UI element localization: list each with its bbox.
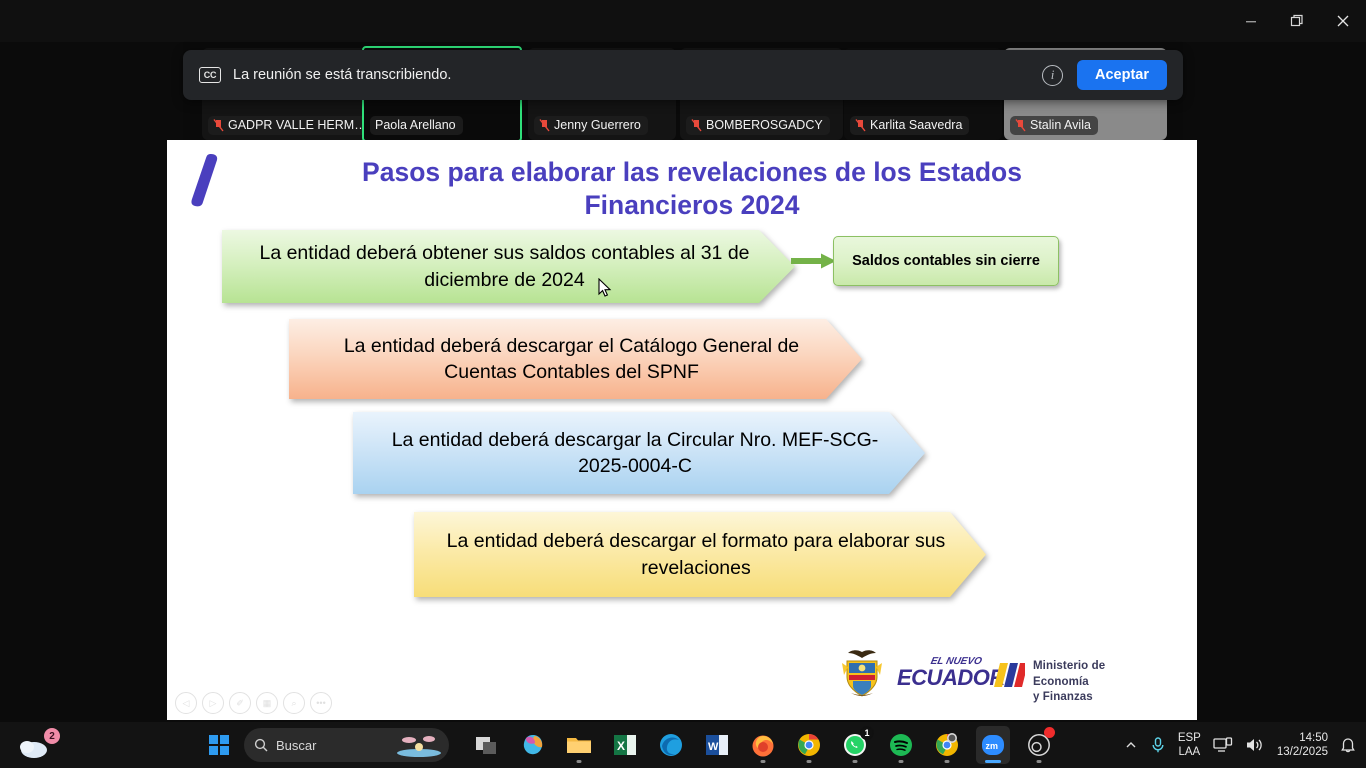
running-indicator bbox=[945, 760, 950, 763]
notification-message: La reunión se está transcribiendo. bbox=[233, 67, 451, 83]
page-title: Pasos para elaborar las revelaciones de … bbox=[297, 156, 1087, 223]
running-indicator bbox=[761, 760, 766, 763]
callout-label: Saldos contables sin cierre bbox=[852, 253, 1040, 269]
weather-badge: 2 bbox=[44, 728, 60, 744]
taskbar-app-obs[interactable] bbox=[1022, 726, 1056, 764]
svg-text:W: W bbox=[708, 741, 719, 753]
clock-date: 13/2/2025 bbox=[1277, 745, 1328, 759]
obs-alert-indicator bbox=[1044, 727, 1055, 738]
next-slide-icon[interactable]: ▷ bbox=[202, 692, 224, 714]
whatsapp-badge: 1 bbox=[860, 726, 874, 740]
search-input[interactable]: Buscar bbox=[244, 728, 449, 762]
participant-name-chip: Paola Arellano bbox=[370, 116, 463, 135]
svg-text:zm: zm bbox=[986, 741, 999, 751]
process-step-label: La entidad deberá descargar el Catálogo … bbox=[315, 333, 828, 386]
desktop-screen: GADPR VALLE HERM… Paola Arellano Jenny G… bbox=[0, 0, 1366, 768]
participant-name: Karlita Saavedra bbox=[870, 118, 962, 132]
running-indicator bbox=[899, 760, 904, 763]
taskbar-app-task-view[interactable] bbox=[470, 726, 504, 764]
participant-name-chip: Karlita Saavedra bbox=[850, 116, 969, 135]
participant-name: GADPR VALLE HERM… bbox=[228, 118, 367, 132]
process-step-green: La entidad deberá obtener sus saldos con… bbox=[222, 230, 795, 303]
participant-name-chip: Stalin Avila bbox=[1010, 116, 1098, 135]
participant-name-chip: BOMBEROSGADCY bbox=[686, 116, 830, 135]
ministry-line-1: Ministerio de Economía bbox=[1033, 659, 1135, 690]
zoom-window-titlebar bbox=[0, 0, 1366, 42]
title-decoration-icon bbox=[189, 152, 223, 208]
weather-widget[interactable]: 2 bbox=[18, 728, 58, 762]
svg-text:ECUADOR: ECUADOR bbox=[897, 665, 1005, 690]
windows-taskbar: 2 Buscar bbox=[0, 722, 1366, 768]
process-step-orange: La entidad deberá descargar el Catálogo … bbox=[289, 319, 862, 399]
taskbar-app-excel[interactable]: X bbox=[608, 726, 642, 764]
network-icon[interactable] bbox=[1213, 736, 1233, 754]
arrow-right-icon bbox=[791, 253, 837, 269]
tray-overflow-button[interactable] bbox=[1124, 738, 1138, 752]
process-step-label: La entidad deberá descargar el formato p… bbox=[440, 528, 952, 581]
participant-name: Paola Arellano bbox=[375, 118, 456, 132]
language-line-1: ESP bbox=[1178, 731, 1201, 745]
taskbar-app-zoom[interactable]: zm bbox=[976, 726, 1010, 764]
participant-name-chip: GADPR VALLE HERM… bbox=[208, 116, 374, 135]
start-button[interactable] bbox=[202, 727, 236, 763]
closed-caption-icon: CC bbox=[199, 67, 221, 83]
process-step-label: La entidad deberá obtener sus saldos con… bbox=[248, 240, 761, 293]
clock[interactable]: 14:50 13/2/2025 bbox=[1277, 731, 1328, 759]
pen-icon[interactable]: ✐ bbox=[229, 692, 251, 714]
participant-name-chip: Jenny Guerrero bbox=[534, 116, 648, 135]
running-indicator bbox=[807, 760, 812, 763]
taskbar-app-copilot[interactable] bbox=[516, 726, 550, 764]
svg-text:X: X bbox=[617, 739, 625, 753]
notification-bell-icon[interactable] bbox=[1340, 736, 1356, 754]
ministry-line-2: y Finanzas bbox=[1033, 690, 1135, 706]
accept-button[interactable]: Aceptar bbox=[1077, 60, 1167, 90]
mouse-cursor bbox=[598, 278, 612, 298]
search-placeholder: Buscar bbox=[276, 738, 316, 753]
taskbar-app-whatsapp[interactable]: 1 bbox=[838, 726, 872, 764]
search-decoration-icon bbox=[395, 732, 443, 758]
taskbar-app-buttons: X W bbox=[470, 726, 1056, 764]
slideshow-controls: ◁ ▷ ✐ ▦ ⌕ ••• bbox=[175, 692, 332, 714]
language-indicator[interactable]: ESP LAA bbox=[1178, 731, 1201, 759]
clock-time: 14:50 bbox=[1277, 731, 1328, 745]
ministry-name: Ministerio de Economía y Finanzas bbox=[1033, 659, 1135, 706]
more-options-icon[interactable]: ••• bbox=[310, 692, 332, 714]
running-indicator bbox=[985, 760, 1001, 763]
info-icon[interactable]: i bbox=[1042, 65, 1063, 86]
process-step-yellow: La entidad deberá descargar el formato p… bbox=[414, 512, 986, 597]
taskbar-app-firefox[interactable] bbox=[746, 726, 780, 764]
restore-button[interactable] bbox=[1274, 0, 1320, 42]
taskbar-app-file-explorer[interactable] bbox=[562, 726, 596, 764]
close-button[interactable] bbox=[1320, 0, 1366, 42]
zoom-icon[interactable]: ⌕ bbox=[283, 692, 305, 714]
ecuador-ministry-logo: EL NUEVO ECUADOR Ministerio de Economía … bbox=[835, 645, 1135, 703]
process-step-blue: La entidad deberá descargar la Circular … bbox=[353, 412, 925, 494]
system-tray: ESP LAA 14:50 13/2/2025 bbox=[1124, 722, 1356, 768]
ecuador-coat-of-arms-icon bbox=[835, 647, 889, 701]
shared-screen-slide: Pasos para elaborar las revelaciones de … bbox=[167, 140, 1197, 720]
language-line-2: LAA bbox=[1178, 745, 1201, 759]
participant-name: Stalin Avila bbox=[1030, 118, 1091, 132]
volume-icon[interactable] bbox=[1245, 736, 1265, 754]
running-indicator bbox=[1037, 760, 1042, 763]
taskbar-app-word[interactable]: W bbox=[700, 726, 734, 764]
search-icon bbox=[254, 738, 268, 752]
previous-slide-icon[interactable]: ◁ bbox=[175, 692, 197, 714]
microphone-icon[interactable] bbox=[1150, 736, 1166, 754]
taskbar-app-edge[interactable] bbox=[654, 726, 688, 764]
participant-name: Jenny Guerrero bbox=[554, 118, 641, 132]
participant-name: BOMBEROSGADCY bbox=[706, 118, 823, 132]
ecuador-wordmark-icon: EL NUEVO ECUADOR bbox=[895, 651, 1025, 697]
transcription-notification-bar: CC La reunión se está transcribiendo. i … bbox=[183, 50, 1183, 100]
all-slides-icon[interactable]: ▦ bbox=[256, 692, 278, 714]
running-indicator bbox=[853, 760, 858, 763]
process-step-label: La entidad deberá descargar la Circular … bbox=[379, 427, 891, 480]
taskbar-app-spotify[interactable] bbox=[884, 726, 918, 764]
minimize-button[interactable] bbox=[1228, 0, 1274, 42]
taskbar-center-group: Buscar bbox=[202, 727, 449, 763]
taskbar-app-chrome-secondary[interactable] bbox=[930, 726, 964, 764]
callout-box: Saldos contables sin cierre bbox=[833, 236, 1059, 286]
taskbar-app-chrome[interactable] bbox=[792, 726, 826, 764]
running-indicator bbox=[577, 760, 582, 763]
